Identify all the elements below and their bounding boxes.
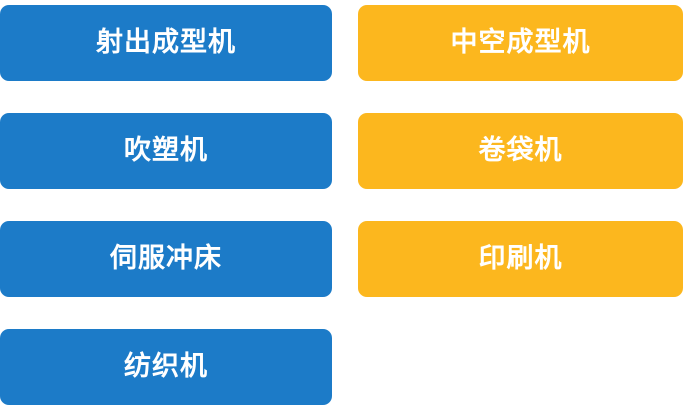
machine-button-injection-molding[interactable]: 射出成型机 — [0, 5, 332, 81]
column-gutter — [332, 221, 358, 297]
empty-slot — [358, 329, 683, 405]
machine-button-blow-molding[interactable]: 中空成型机 — [358, 5, 683, 81]
machine-button-label: 卷袋机 — [479, 137, 563, 164]
machine-category-grid: 射出成型机 中空成型机 吹塑机 卷袋机 伺服冲床 印刷机 纺织机 — [0, 0, 686, 403]
machine-button-textile[interactable]: 纺织机 — [0, 329, 332, 405]
machine-button-label: 中空成型机 — [451, 29, 591, 56]
machine-button-servo-press[interactable]: 伺服冲床 — [0, 221, 332, 297]
machine-button-printing[interactable]: 印刷机 — [358, 221, 683, 297]
column-gutter — [332, 113, 358, 189]
machine-button-label: 纺织机 — [124, 353, 208, 380]
machine-button-bag-rolling[interactable]: 卷袋机 — [358, 113, 683, 189]
machine-button-label: 伺服冲床 — [110, 245, 222, 272]
machine-button-extrusion-blow[interactable]: 吹塑机 — [0, 113, 332, 189]
machine-button-label: 射出成型机 — [96, 29, 236, 56]
machine-button-label: 吹塑机 — [124, 137, 208, 164]
column-gutter — [332, 5, 358, 81]
column-gutter — [332, 329, 358, 405]
machine-button-label: 印刷机 — [479, 245, 563, 272]
